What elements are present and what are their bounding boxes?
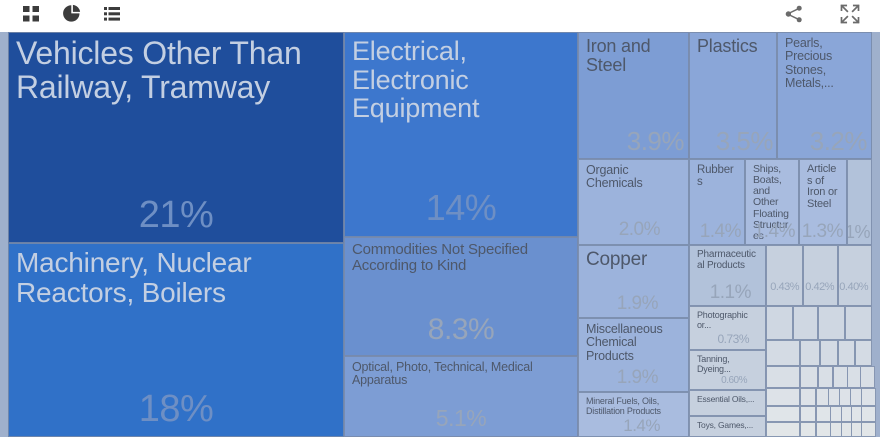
fullscreen-icon[interactable] xyxy=(840,4,860,29)
treemap-tile[interactable]: Ships, Boats, and Other Floating Structu… xyxy=(745,159,799,245)
toolbar-actions xyxy=(784,0,860,32)
treemap-tile[interactable] xyxy=(766,388,800,406)
tile-value: 0.73% xyxy=(717,333,749,345)
treemap-app: Vehicles Other Than Railway, Tramway 21%… xyxy=(0,0,880,437)
treemap-tile[interactable] xyxy=(861,406,876,422)
tile-label: Photographic or... xyxy=(697,311,759,330)
tile-label: Optical, Photo, Technical, Medical Appar… xyxy=(352,361,571,388)
pie-chart-icon[interactable] xyxy=(62,4,81,28)
tile-value: 0.40% xyxy=(839,282,868,293)
treemap-tile[interactable]: 1.1% xyxy=(847,159,872,245)
treemap-tile[interactable]: Plastics 3.5% xyxy=(689,32,777,159)
treemap-tile[interactable]: Miscellaneous Chemical Products 1.9% xyxy=(578,318,689,392)
treemap-tile[interactable] xyxy=(860,366,875,388)
tile-value: 18% xyxy=(9,390,343,428)
treemap-tile[interactable] xyxy=(861,388,876,406)
tile-label: Electrical, Electronic Equipment xyxy=(352,37,571,123)
treemap-tile[interactable]: 0.40% xyxy=(838,245,872,306)
tile-label: Mineral Fuels, Oils, Distillation Produc… xyxy=(586,397,682,416)
treemap-tile[interactable] xyxy=(855,340,872,366)
grid-view-icon[interactable] xyxy=(22,5,40,28)
tile-value: 0.42% xyxy=(805,282,834,293)
treemap-tile[interactable]: Articles of Iron or Steel 1.3% xyxy=(799,159,847,245)
treemap-tile[interactable] xyxy=(793,306,818,340)
tile-value: 3.9% xyxy=(627,128,684,154)
treemap-canvas: Vehicles Other Than Railway, Tramway 21%… xyxy=(0,32,880,437)
tile-value: 5.1% xyxy=(345,407,577,430)
tile-value: 1.1% xyxy=(710,283,751,302)
tile-value: 1.4% xyxy=(754,222,795,241)
treemap-tile[interactable]: Commodities Not Specified According to K… xyxy=(344,237,578,356)
treemap-tile[interactable]: Photographic or... 0.73% xyxy=(689,306,766,350)
tile-label: Essential Oils,... xyxy=(697,395,759,404)
tile-label: Vehicles Other Than Railway, Tramway xyxy=(16,37,337,105)
treemap-tile[interactable]: Optical, Photo, Technical, Medical Appar… xyxy=(344,356,578,437)
tile-label: Copper xyxy=(586,250,682,270)
treemap-tile[interactable] xyxy=(800,340,820,366)
tile-label: Toys, Games,... xyxy=(697,421,759,430)
treemap-tile[interactable]: Iron and Steel 3.9% xyxy=(578,32,689,159)
treemap-tile[interactable]: Copper 1.9% xyxy=(578,245,689,318)
treemap-tile[interactable] xyxy=(818,306,845,340)
treemap-tile[interactable]: Electrical, Electronic Equipment 14% xyxy=(344,32,578,237)
toolbar-view-switcher xyxy=(22,0,121,32)
treemap-tile[interactable] xyxy=(766,306,793,340)
tile-value: 0.60% xyxy=(721,376,747,386)
treemap-tile[interactable] xyxy=(766,406,800,422)
treemap-tile[interactable] xyxy=(833,366,848,388)
tile-value: 1.1% xyxy=(847,223,870,241)
treemap-tile[interactable]: Mineral Fuels, Oils, Distillation Produc… xyxy=(578,392,689,437)
treemap-tile[interactable] xyxy=(766,340,800,366)
tile-value: 3.2% xyxy=(810,128,867,154)
tile-label: Miscellaneous Chemical Products xyxy=(586,323,682,363)
tile-label: Pharmaceutical Products xyxy=(697,250,759,271)
tile-value: 8.3% xyxy=(345,315,577,345)
tile-value: 14% xyxy=(345,190,577,226)
treemap-tile[interactable]: Pearls, Precious Stones, Metals,... 3.2% xyxy=(777,32,872,159)
treemap-tile[interactable]: Tanning, Dyeing... 0.60% xyxy=(689,350,766,390)
tile-label: Pearls, Precious Stones, Metals,... xyxy=(785,37,865,90)
treemap-tile[interactable] xyxy=(845,306,872,340)
treemap-tile[interactable] xyxy=(820,340,838,366)
treemap-tile[interactable]: 0.43% xyxy=(766,245,803,306)
tile-value: 0.43% xyxy=(770,282,799,293)
treemap-tile[interactable] xyxy=(800,422,816,437)
treemap-tile[interactable]: Essential Oils,... xyxy=(689,390,766,416)
treemap-tile[interactable] xyxy=(800,388,816,406)
tile-label: Iron and Steel xyxy=(586,37,682,75)
tile-value: 1.9% xyxy=(617,368,658,387)
tile-label: Rubbers xyxy=(697,164,738,188)
tile-value: 1.4% xyxy=(700,222,741,241)
treemap-tile[interactable] xyxy=(766,422,800,437)
tile-label: Machinery, Nuclear Reactors, Boilers xyxy=(16,248,337,307)
tile-label: Tanning, Dyeing... xyxy=(697,355,759,374)
tile-value: 1.3% xyxy=(802,222,843,241)
tile-label: Articles of Iron or Steel xyxy=(807,164,840,211)
treemap-tile[interactable] xyxy=(816,422,831,437)
treemap-tile[interactable] xyxy=(766,366,800,388)
share-icon[interactable] xyxy=(784,4,804,29)
treemap-tile[interactable] xyxy=(838,340,855,366)
treemap-tile[interactable]: Toys, Games,... xyxy=(689,416,766,437)
list-view-icon[interactable] xyxy=(103,5,121,28)
tile-value: 21% xyxy=(9,196,343,234)
tile-value: 1.4% xyxy=(623,417,660,434)
treemap-tile[interactable] xyxy=(861,422,876,437)
tile-value: 2.0% xyxy=(619,220,660,239)
treemap-tile[interactable]: Organic Chemicals 2.0% xyxy=(578,159,689,245)
treemap-tile[interactable] xyxy=(818,366,833,388)
tile-label: Organic Chemicals xyxy=(586,164,682,191)
tile-label: Commodities Not Specified According to K… xyxy=(352,242,571,274)
tile-value: 1.9% xyxy=(617,294,658,313)
treemap-tile[interactable]: 0.42% xyxy=(803,245,838,306)
treemap-tile[interactable]: Vehicles Other Than Railway, Tramway 21% xyxy=(8,32,344,243)
toolbar xyxy=(0,0,880,32)
treemap-tile[interactable] xyxy=(800,366,818,388)
treemap-tile[interactable] xyxy=(816,406,831,422)
treemap-tile[interactable]: Rubbers 1.4% xyxy=(689,159,745,245)
treemap-tile[interactable] xyxy=(800,406,816,422)
tile-value: 3.5% xyxy=(716,128,773,154)
treemap-tile[interactable]: Pharmaceutical Products 1.1% xyxy=(689,245,766,306)
tile-label: Plastics xyxy=(697,37,770,56)
treemap-tile[interactable]: Machinery, Nuclear Reactors, Boilers 18% xyxy=(8,243,344,437)
